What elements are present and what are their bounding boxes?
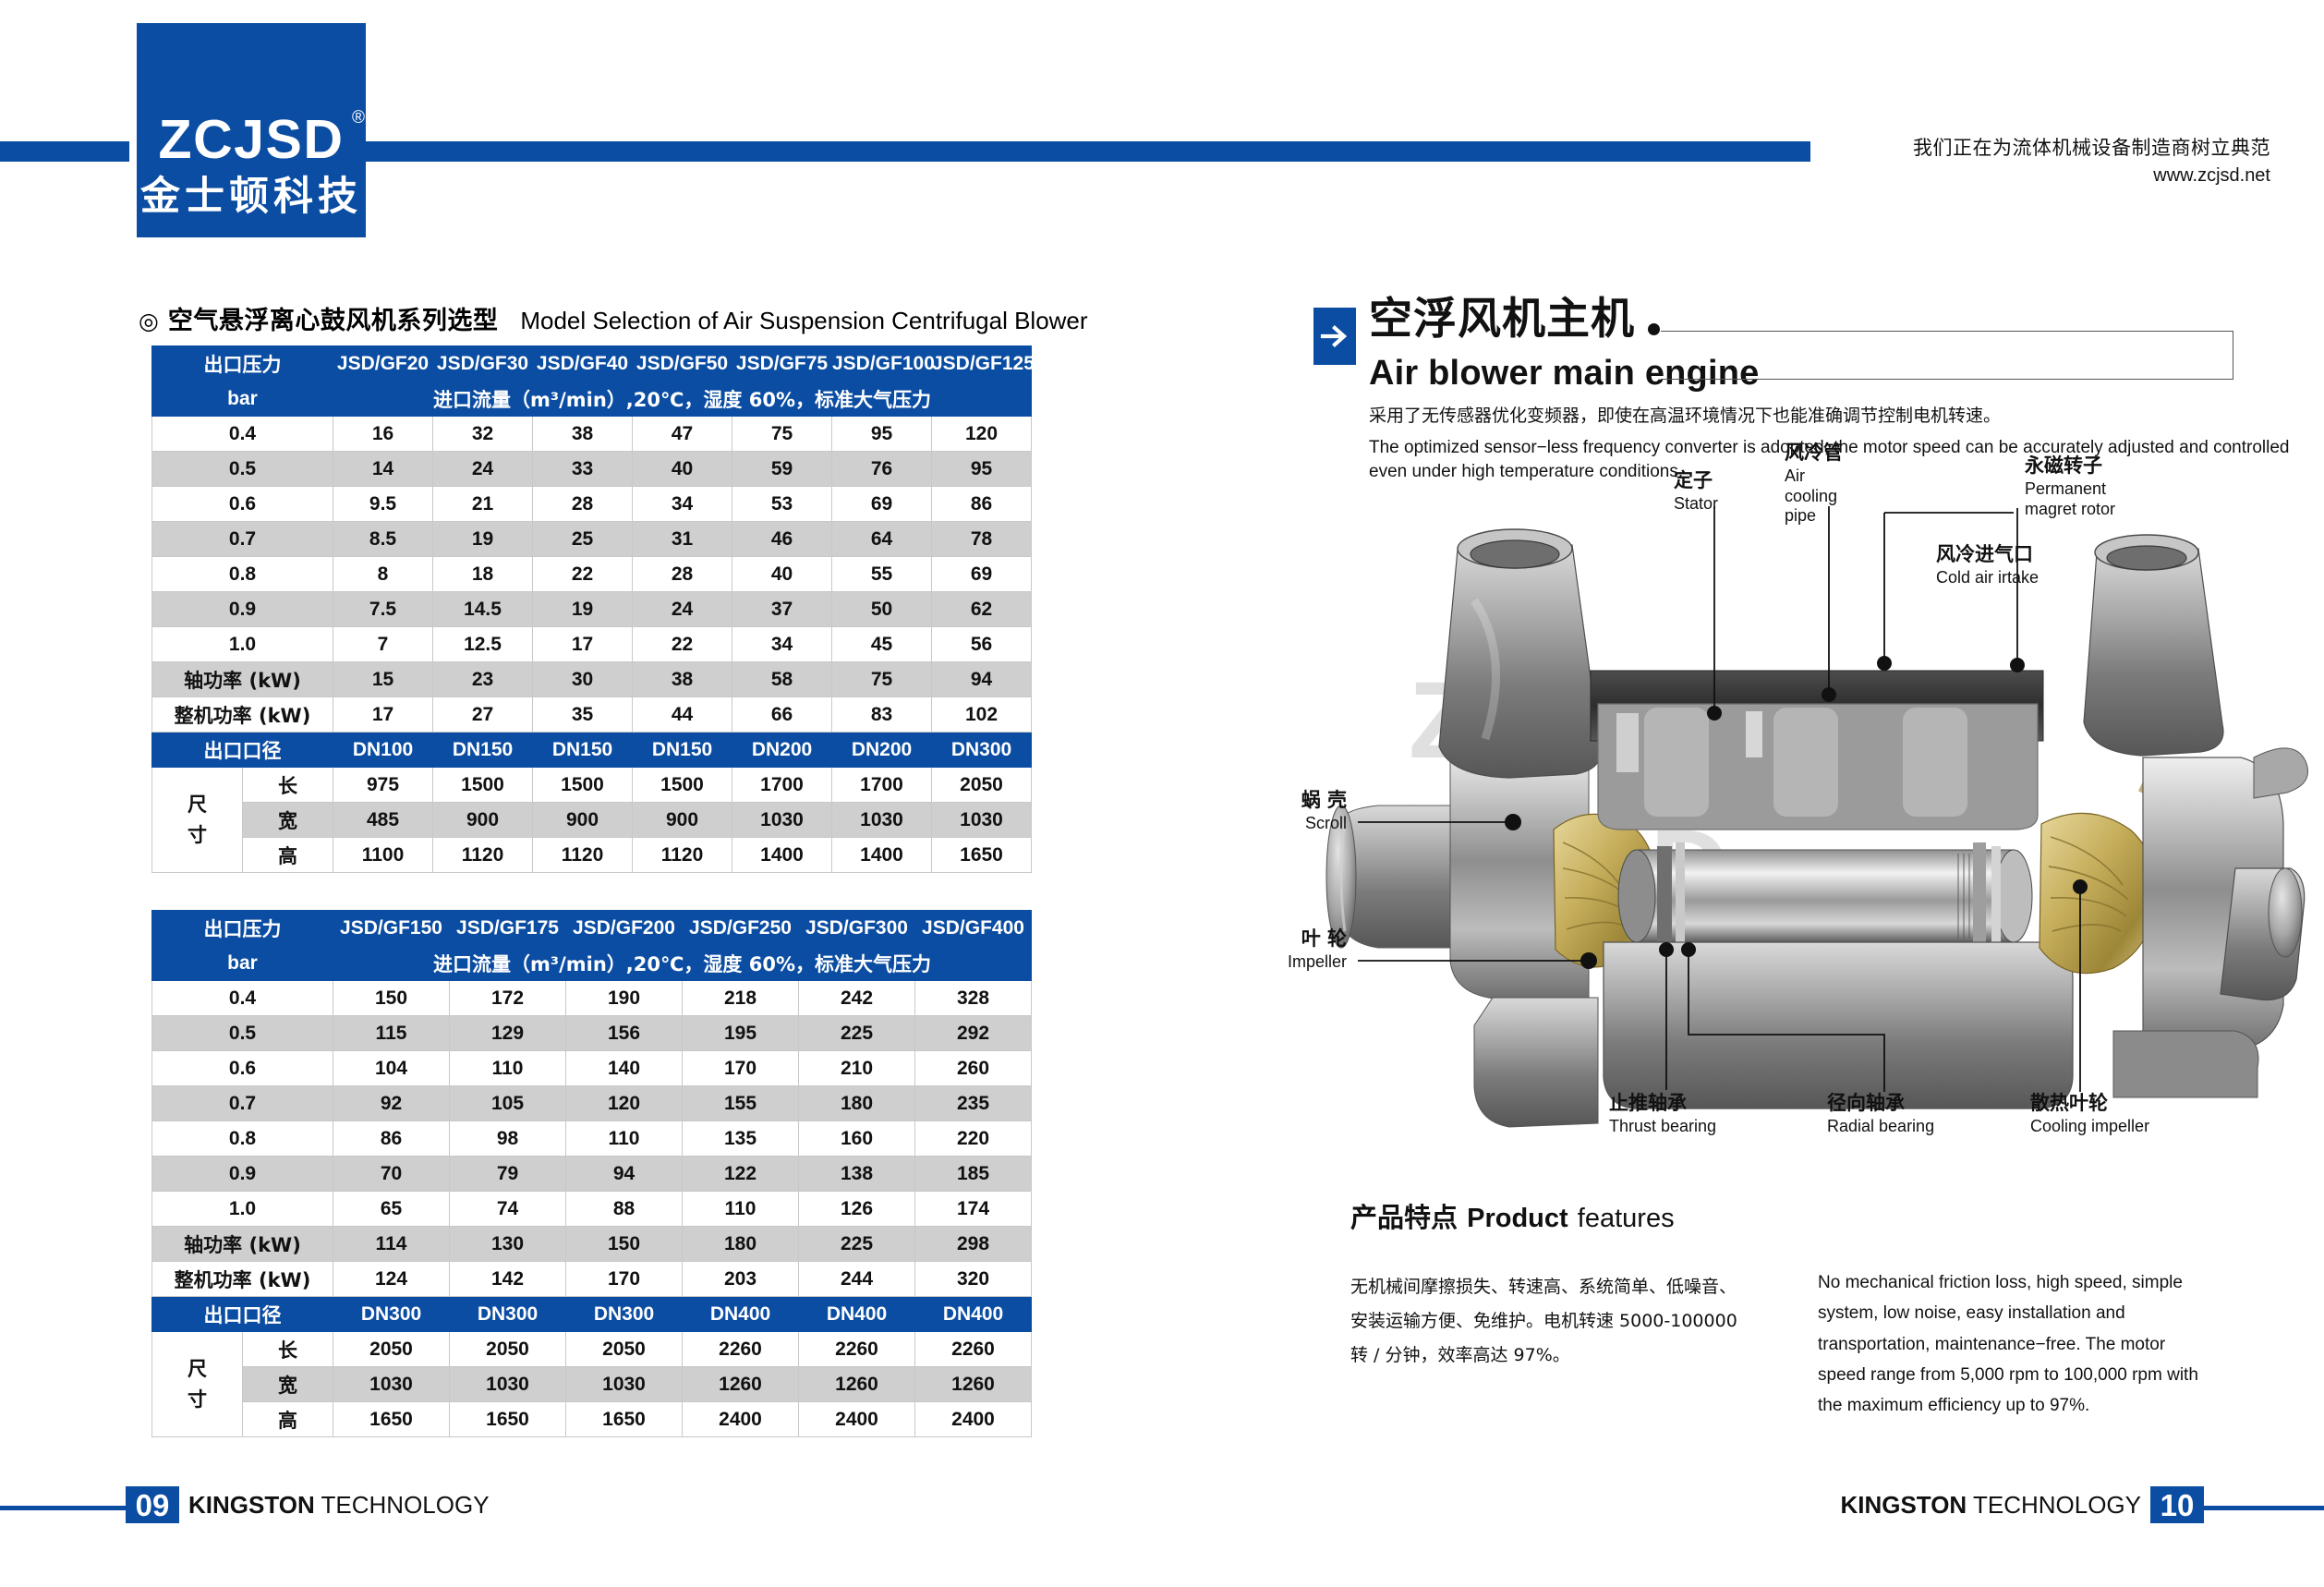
table2-pressure-row: 0.9707994122138185 bbox=[152, 1157, 1032, 1192]
table2-flow-cell: 174 bbox=[915, 1192, 1032, 1227]
table1-dimension-cell: 1500 bbox=[633, 768, 732, 803]
footer-rule-right bbox=[2204, 1506, 2324, 1510]
spec-table-large-models: 出口压力JSD/GF150JSD/GF175JSD/GF200JSD/GF250… bbox=[151, 910, 1032, 1437]
table1-flow-cell: 76 bbox=[832, 452, 932, 487]
table1-dimension-name: 长 bbox=[243, 768, 333, 803]
table2-dimension-cell: 1260 bbox=[915, 1367, 1032, 1402]
table1-flow-cell: 28 bbox=[533, 487, 633, 522]
table1-dimension-cell: 975 bbox=[333, 768, 433, 803]
footer-brand-left-light: TECHNOLOGY bbox=[321, 1491, 490, 1519]
table2-flow-cell: 156 bbox=[566, 1016, 683, 1051]
header-slogan: 我们正在为流体机械设备制造商树立典范 www.zcjsd.net bbox=[1913, 135, 2270, 188]
table1-flow-cell: 7.5 bbox=[333, 592, 433, 627]
table2-flow-cell: 235 bbox=[915, 1086, 1032, 1121]
table1-total-power-cell: 66 bbox=[732, 697, 832, 733]
table1-dimension-name: 高 bbox=[243, 838, 333, 873]
table1-flow-cell: 38 bbox=[533, 417, 633, 452]
table1-flow-cell: 14.5 bbox=[433, 592, 533, 627]
callout-radial-bearing-cn: 径向轴承 bbox=[1827, 1092, 1934, 1115]
table1-dimension-cell: 1120 bbox=[533, 838, 633, 873]
table2-outlet-cell: DN300 bbox=[566, 1297, 683, 1332]
table2-dimension-cell: 1030 bbox=[566, 1367, 683, 1402]
table2-shaft-power-row: 轴功率 (kW)114130150180225298 bbox=[152, 1227, 1032, 1262]
callout-permanent-magnet-rotor: 永磁转子 Permanent magret rotor bbox=[2025, 454, 2128, 519]
table1-flow-cell: 9.5 bbox=[333, 487, 433, 522]
callout-impeller: 叶 轮 Impeller bbox=[1210, 927, 1347, 973]
table2-shaft-power-cell: 225 bbox=[799, 1227, 915, 1262]
table1-dimension-cell: 1120 bbox=[433, 838, 533, 873]
table1-flow-cell: 46 bbox=[732, 522, 832, 557]
table2-unit-row: bar进口流量（m³/min）,20℃，湿度 60%，标准大气压力 bbox=[152, 946, 1032, 981]
table1-total-power-row: 整机功率 (kW)172735446683102 bbox=[152, 697, 1032, 733]
table1-dimension-name: 宽 bbox=[243, 803, 333, 838]
table1-model-4: JSD/GF75 bbox=[732, 346, 832, 382]
table1-dimension-cell: 1500 bbox=[433, 768, 533, 803]
table2-flow-cell: 92 bbox=[333, 1086, 450, 1121]
table1-dimension-row: 宽485900900900103010301030 bbox=[152, 803, 1032, 838]
table1-flow-cell: 24 bbox=[433, 452, 533, 487]
table2-unit-label: bar bbox=[152, 946, 333, 981]
table2-model-4: JSD/GF300 bbox=[799, 911, 915, 946]
callout-cold-air-intake: 风冷进气口 Cold air irtake bbox=[1936, 543, 2039, 588]
table2-pressure-value: 0.8 bbox=[152, 1121, 333, 1157]
company-logo: ZCJSD® 金士顿科技 bbox=[137, 23, 366, 237]
table2-flow-cell: 260 bbox=[915, 1051, 1032, 1086]
table2-pressure-value: 1.0 bbox=[152, 1192, 333, 1227]
table1-total-power-cell: 83 bbox=[832, 697, 932, 733]
table2-flow-cell: 135 bbox=[683, 1121, 799, 1157]
table2-flow-cell: 79 bbox=[450, 1157, 566, 1192]
table1-model-2: JSD/GF40 bbox=[533, 346, 633, 382]
table2-flow-cell: 185 bbox=[915, 1157, 1032, 1192]
callout-air-cooling-pipe: 风冷管 Air cooling pipe bbox=[1785, 442, 1862, 527]
table1-total-power-cell: 35 bbox=[533, 697, 633, 733]
table2-dimension-cell: 1260 bbox=[683, 1367, 799, 1402]
table1-dimension-cell: 1650 bbox=[932, 838, 1032, 873]
arrow-right-icon bbox=[1313, 308, 1356, 365]
table1-flow-cell: 37 bbox=[732, 592, 832, 627]
table1-flow-cell: 28 bbox=[633, 557, 732, 592]
table1-model-6: JSD/GF125 bbox=[932, 346, 1032, 382]
table2-flow-cell: 86 bbox=[333, 1121, 450, 1157]
table1-pressure-value: 0.8 bbox=[152, 557, 333, 592]
table2-model-5: JSD/GF400 bbox=[915, 911, 1032, 946]
table2-pressure-value: 0.9 bbox=[152, 1157, 333, 1192]
table2-flow-cell: 138 bbox=[799, 1157, 915, 1192]
table2-flow-cell: 180 bbox=[799, 1086, 915, 1121]
table1-flow-cell: 34 bbox=[732, 627, 832, 662]
table2-shaft-power-cell: 114 bbox=[333, 1227, 450, 1262]
product-features-title: 产品特点 Product features bbox=[1350, 1196, 1675, 1235]
callout-stator: 定子 Stator bbox=[1674, 469, 1718, 515]
table1-model-3: JSD/GF50 bbox=[633, 346, 732, 382]
table1-total-power-cell: 17 bbox=[333, 697, 433, 733]
table1-model-1: JSD/GF30 bbox=[433, 346, 533, 382]
table2-dimension-cell: 1650 bbox=[566, 1402, 683, 1437]
table2-flow-cell: 150 bbox=[333, 981, 450, 1016]
table2-flow-cell: 120 bbox=[566, 1086, 683, 1121]
table1-flow-header: 进口流量（m³/min）,20℃，湿度 60%，标准大气压力 bbox=[333, 382, 1032, 417]
table1-pressure-value: 0.4 bbox=[152, 417, 333, 452]
table1-flow-cell: 56 bbox=[932, 627, 1032, 662]
table1-outlet-cell: DN300 bbox=[932, 733, 1032, 768]
table2-outlet-cell: DN400 bbox=[915, 1297, 1032, 1332]
table2-flow-cell: 104 bbox=[333, 1051, 450, 1086]
logo-chinese-name: 金士顿科技 bbox=[140, 177, 362, 217]
table1-pressure-row: 0.88182228405569 bbox=[152, 557, 1032, 592]
table2-pressure-value: 0.5 bbox=[152, 1016, 333, 1051]
table2-flow-cell: 115 bbox=[333, 1016, 450, 1051]
table1-flow-cell: 62 bbox=[932, 592, 1032, 627]
callout-radial-bearing-en: Radial bearing bbox=[1827, 1117, 1934, 1137]
callout-stator-cn: 定子 bbox=[1674, 469, 1718, 492]
table1-pressure-value: 0.6 bbox=[152, 487, 333, 522]
table1-pressure-value: 1.0 bbox=[152, 627, 333, 662]
table1-flow-cell: 40 bbox=[732, 557, 832, 592]
table1-flow-cell: 34 bbox=[633, 487, 732, 522]
table2-flow-cell: 328 bbox=[915, 981, 1032, 1016]
table2-outlet-cell: DN300 bbox=[333, 1297, 450, 1332]
table1-pressure-row: 0.97.514.51924375062 bbox=[152, 592, 1032, 627]
spec-table-small-models: 出口压力JSD/GF20JSD/GF30JSD/GF40JSD/GF50JSD/… bbox=[151, 345, 1032, 873]
table1-flow-cell: 33 bbox=[533, 452, 633, 487]
table1-shaft-power-cell: 15 bbox=[333, 662, 433, 697]
callout-cooling-impeller: 散热叶轮 Cooling impeller bbox=[2030, 1092, 2149, 1137]
table1-flow-cell: 78 bbox=[932, 522, 1032, 557]
table2-total-power-row: 整机功率 (kW)124142170203244320 bbox=[152, 1262, 1032, 1297]
table1-outlet-cell: DN100 bbox=[333, 733, 433, 768]
table2-dimension-cell: 1650 bbox=[333, 1402, 450, 1437]
product-features-body-cn: 无机械间摩擦损失、转速高、系统简单、低噪音、安装运输方便、免维护。电机转速 50… bbox=[1350, 1270, 1738, 1373]
table1-dimension-cell: 1030 bbox=[832, 803, 932, 838]
table2-shaft-power-label: 轴功率 (kW) bbox=[152, 1227, 333, 1262]
table1-flow-cell: 21 bbox=[433, 487, 533, 522]
table2-flow-cell: 110 bbox=[566, 1121, 683, 1157]
table2-total-power-cell: 170 bbox=[566, 1262, 683, 1297]
table2-total-power-cell: 203 bbox=[683, 1262, 799, 1297]
logo-wordmark: ZCJSD® bbox=[159, 113, 345, 167]
table2-flow-header: 进口流量（m³/min）,20℃，湿度 60%，标准大气压力 bbox=[333, 946, 1032, 981]
table1-outlet-cell: DN200 bbox=[832, 733, 932, 768]
table2-pressure-value: 0.6 bbox=[152, 1051, 333, 1086]
table2-dimension-label: 尺寸 bbox=[152, 1332, 243, 1437]
table1-shaft-power-cell: 94 bbox=[932, 662, 1032, 697]
table1-flow-cell: 17 bbox=[533, 627, 633, 662]
table2-pressure-row: 1.0657488110126174 bbox=[152, 1192, 1032, 1227]
table1-flow-cell: 18 bbox=[433, 557, 533, 592]
brochure-spread: ZCJSD® 金士顿科技 我们正在为流体机械设备制造商树立典范 www.zcjs… bbox=[0, 0, 2324, 1587]
table2-dimension-cell: 2400 bbox=[915, 1402, 1032, 1437]
table2-dimension-cell: 1260 bbox=[799, 1367, 915, 1402]
table2-dimension-cell: 2050 bbox=[450, 1332, 566, 1367]
table2-flow-cell: 242 bbox=[799, 981, 915, 1016]
table2-pressure-row: 0.88698110135160220 bbox=[152, 1121, 1032, 1157]
table1-outlet-cell: DN200 bbox=[732, 733, 832, 768]
table2-pressure-value: 0.7 bbox=[152, 1086, 333, 1121]
table2-flow-cell: 129 bbox=[450, 1016, 566, 1051]
table1-flow-cell: 45 bbox=[832, 627, 932, 662]
product-features-title-en-bold: Product bbox=[1467, 1204, 1568, 1233]
description-chinese: 采用了无传感器优化变频器，即使在高温环境情况下也能准确调节控制电机转速。 bbox=[1369, 404, 2302, 430]
section-title-english: Model Selection of Air Suspension Centri… bbox=[520, 307, 1087, 335]
table1-pressure-row: 0.69.5212834536986 bbox=[152, 487, 1032, 522]
table1-flow-cell: 86 bbox=[932, 487, 1032, 522]
table2-dimension-cell: 2400 bbox=[799, 1402, 915, 1437]
table2-pressure-row: 0.5115129156195225292 bbox=[152, 1016, 1032, 1051]
table2-total-power-cell: 142 bbox=[450, 1262, 566, 1297]
table1-pressure-value: 0.5 bbox=[152, 452, 333, 487]
table2-shaft-power-cell: 130 bbox=[450, 1227, 566, 1262]
table2-flow-cell: 65 bbox=[333, 1192, 450, 1227]
table1-flow-cell: 40 bbox=[633, 452, 732, 487]
header-rule-left bbox=[0, 141, 129, 162]
table1-total-power-label: 整机功率 (kW) bbox=[152, 697, 333, 733]
company-website[interactable]: www.zcjsd.net bbox=[1913, 164, 2270, 188]
callout-cooling-impeller-en: Cooling impeller bbox=[2030, 1117, 2149, 1137]
table1-flow-cell: 69 bbox=[932, 557, 1032, 592]
callout-cooling-impeller-cn: 散热叶轮 bbox=[2030, 1092, 2149, 1115]
callout-stator-en: Stator bbox=[1674, 494, 1718, 515]
table2-flow-cell: 126 bbox=[799, 1192, 915, 1227]
table1-flow-cell: 8 bbox=[333, 557, 433, 592]
table2-outlet-row: 出口口径DN300DN300DN300DN400DN400DN400 bbox=[152, 1297, 1032, 1332]
table1-shaft-power-cell: 23 bbox=[433, 662, 533, 697]
table2-model-0: JSD/GF150 bbox=[333, 911, 450, 946]
table2-flow-cell: 172 bbox=[450, 981, 566, 1016]
table1-pressure-row: 1.0712.51722344556 bbox=[152, 627, 1032, 662]
table2-flow-cell: 122 bbox=[683, 1157, 799, 1192]
table1-flow-cell: 120 bbox=[932, 417, 1032, 452]
table2-shaft-power-cell: 180 bbox=[683, 1227, 799, 1262]
product-features-title-cn: 产品特点 bbox=[1350, 1202, 1458, 1233]
table1-outlet-label: 出口口径 bbox=[152, 733, 333, 768]
table1-unit-label: bar bbox=[152, 382, 333, 417]
table2-flow-cell: 170 bbox=[683, 1051, 799, 1086]
table1-flow-cell: 95 bbox=[932, 452, 1032, 487]
table1-dimension-cell: 1030 bbox=[932, 803, 1032, 838]
table1-dimension-row: 高1100112011201120140014001650 bbox=[152, 838, 1032, 873]
table1-flow-cell: 47 bbox=[633, 417, 732, 452]
footer-brand-left-bold: KINGSTON bbox=[188, 1491, 315, 1519]
table2-pressure-row: 0.792105120155180235 bbox=[152, 1086, 1032, 1121]
table2-shaft-power-cell: 298 bbox=[915, 1227, 1032, 1262]
table2-dimension-cell: 1030 bbox=[333, 1367, 450, 1402]
table1-flow-cell: 50 bbox=[832, 592, 932, 627]
table2-flow-cell: 110 bbox=[450, 1051, 566, 1086]
table1-dimension-cell: 1120 bbox=[633, 838, 732, 873]
table1-flow-cell: 55 bbox=[832, 557, 932, 592]
table1-dimension-cell: 1400 bbox=[732, 838, 832, 873]
table1-pressure-value: 0.7 bbox=[152, 522, 333, 557]
table1-flow-cell: 8.5 bbox=[333, 522, 433, 557]
callout-scroll-cn: 蜗 壳 bbox=[1210, 789, 1347, 812]
table1-dimension-cell: 900 bbox=[633, 803, 732, 838]
table1-total-power-cell: 44 bbox=[633, 697, 732, 733]
table2-pressure-value: 0.4 bbox=[152, 981, 333, 1016]
table1-outlet-cell: DN150 bbox=[533, 733, 633, 768]
bullet-icon: ◎ bbox=[139, 308, 159, 335]
table2-flow-cell: 160 bbox=[799, 1121, 915, 1157]
table2-dimension-name: 长 bbox=[243, 1332, 333, 1367]
table2-flow-cell: 292 bbox=[915, 1016, 1032, 1051]
table1-dimension-cell: 1700 bbox=[732, 768, 832, 803]
table1-pressure-value: 0.9 bbox=[152, 592, 333, 627]
table1-flow-cell: 22 bbox=[533, 557, 633, 592]
callout-air-cooling-pipe-cn: 风冷管 bbox=[1785, 442, 1862, 465]
logo-wordmark-text: ZCJSD bbox=[159, 109, 345, 170]
table2-flow-cell: 88 bbox=[566, 1192, 683, 1227]
table1-model-0: JSD/GF20 bbox=[333, 346, 433, 382]
table2-total-power-cell: 124 bbox=[333, 1262, 450, 1297]
table1-shaft-power-cell: 58 bbox=[732, 662, 832, 697]
table1-dimension-cell: 900 bbox=[533, 803, 633, 838]
table2-flow-cell: 155 bbox=[683, 1086, 799, 1121]
table2-outlet-label: 出口口径 bbox=[152, 1297, 333, 1332]
callout-scroll: 蜗 壳 Scroll bbox=[1210, 789, 1347, 834]
table1-dimension-cell: 1500 bbox=[533, 768, 633, 803]
table2-model-header-row: 出口压力JSD/GF150JSD/GF175JSD/GF200JSD/GF250… bbox=[152, 911, 1032, 946]
table1-flow-cell: 64 bbox=[832, 522, 932, 557]
table2-dimension-cell: 1030 bbox=[450, 1367, 566, 1402]
table2-flow-cell: 218 bbox=[683, 981, 799, 1016]
table2-model-3: JSD/GF250 bbox=[683, 911, 799, 946]
table2-total-power-cell: 320 bbox=[915, 1262, 1032, 1297]
table2-flow-cell: 70 bbox=[333, 1157, 450, 1192]
table2-total-power-cell: 244 bbox=[799, 1262, 915, 1297]
table1-outlet-row: 出口口径DN100DN150DN150DN150DN200DN200DN300 bbox=[152, 733, 1032, 768]
footer-brand-right-bold: KINGSTON bbox=[1840, 1491, 1967, 1519]
table1-pressure-row: 0.4163238477595120 bbox=[152, 417, 1032, 452]
table2-dimension-row: 高165016501650240024002400 bbox=[152, 1402, 1032, 1437]
slogan-chinese: 我们正在为流体机械设备制造商树立典范 bbox=[1913, 135, 2270, 161]
table2-flow-cell: 220 bbox=[915, 1121, 1032, 1157]
table1-shaft-power-cell: 75 bbox=[832, 662, 932, 697]
table1-shaft-power-cell: 38 bbox=[633, 662, 732, 697]
table1-shaft-power-label: 轴功率 (kW) bbox=[152, 662, 333, 697]
table1-pressure-row: 0.514243340597695 bbox=[152, 452, 1032, 487]
callout-scroll-en: Scroll bbox=[1210, 814, 1347, 834]
blower-cutaway-diagram: ZCJSD ZCJSD bbox=[1312, 480, 2309, 1145]
table1-flow-cell: 19 bbox=[533, 592, 633, 627]
table1-dimension-cell: 1400 bbox=[832, 838, 932, 873]
callout-cold-air-intake-cn: 风冷进气口 bbox=[1936, 543, 2039, 566]
table2-model-2: JSD/GF200 bbox=[566, 911, 683, 946]
table1-flow-cell: 59 bbox=[732, 452, 832, 487]
callout-thrust-bearing-en: Thrust bearing bbox=[1609, 1117, 1716, 1137]
table1-flow-cell: 16 bbox=[333, 417, 433, 452]
table2-flow-cell: 225 bbox=[799, 1016, 915, 1051]
table2-corner-label: 出口压力 bbox=[152, 911, 333, 946]
table1-dimension-cell: 1030 bbox=[732, 803, 832, 838]
callout-permanent-magnet-rotor-en: Permanent magret rotor bbox=[2025, 479, 2128, 519]
table1-dimension-cell: 485 bbox=[333, 803, 433, 838]
table2-flow-cell: 94 bbox=[566, 1157, 683, 1192]
table1-flow-cell: 22 bbox=[633, 627, 732, 662]
table1-flow-cell: 12.5 bbox=[433, 627, 533, 662]
table1-model-5: JSD/GF100 bbox=[832, 346, 932, 382]
footer-rule-left bbox=[0, 1506, 126, 1510]
footer-brand-right-light: TECHNOLOGY bbox=[1973, 1491, 2141, 1519]
table1-flow-cell: 53 bbox=[732, 487, 832, 522]
section-title: ◎ 空气悬浮离心鼓风机系列选型 Model Selection of Air S… bbox=[139, 300, 1088, 336]
table2-dimension-row: 尺寸长205020502050226022602260 bbox=[152, 1332, 1032, 1367]
table1-dimension-cell: 900 bbox=[433, 803, 533, 838]
table1-outlet-cell: DN150 bbox=[633, 733, 732, 768]
table2-dimension-cell: 2400 bbox=[683, 1402, 799, 1437]
table1-flow-cell: 14 bbox=[333, 452, 433, 487]
footer-brand-left: KINGSTON TECHNOLOGY bbox=[188, 1491, 490, 1520]
callout-cold-air-intake-en: Cold air irtake bbox=[1936, 568, 2039, 588]
table2-flow-cell: 140 bbox=[566, 1051, 683, 1086]
callout-air-cooling-pipe-en: Air cooling pipe bbox=[1785, 466, 1862, 527]
table1-flow-cell: 25 bbox=[533, 522, 633, 557]
table1-flow-cell: 19 bbox=[433, 522, 533, 557]
table1-flow-cell: 75 bbox=[732, 417, 832, 452]
table2-dimension-name: 宽 bbox=[243, 1367, 333, 1402]
table1-dimension-label: 尺寸 bbox=[152, 768, 243, 873]
table2-model-1: JSD/GF175 bbox=[450, 911, 566, 946]
table1-dimension-cell: 1700 bbox=[832, 768, 932, 803]
table1-model-header-row: 出口压力JSD/GF20JSD/GF30JSD/GF40JSD/GF50JSD/… bbox=[152, 346, 1032, 382]
table2-flow-cell: 195 bbox=[683, 1016, 799, 1051]
table1-corner-label: 出口压力 bbox=[152, 346, 333, 382]
table2-dimension-cell: 2050 bbox=[333, 1332, 450, 1367]
table1-dimension-cell: 2050 bbox=[932, 768, 1032, 803]
callout-radial-bearing: 径向轴承 Radial bearing bbox=[1827, 1092, 1934, 1137]
table2-pressure-row: 0.4150172190218242328 bbox=[152, 981, 1032, 1016]
table2-flow-cell: 190 bbox=[566, 981, 683, 1016]
table2-dimension-row: 宽103010301030126012601260 bbox=[152, 1367, 1032, 1402]
callout-impeller-en: Impeller bbox=[1210, 952, 1347, 973]
callout-impeller-cn: 叶 轮 bbox=[1210, 927, 1347, 951]
table2-dimension-cell: 2260 bbox=[683, 1332, 799, 1367]
page-number-right: 10 bbox=[2150, 1486, 2204, 1523]
right-page-title-chinese: 空浮风机主机 bbox=[1369, 297, 1635, 341]
table1-outlet-cell: DN150 bbox=[433, 733, 533, 768]
table2-dimension-cell: 1650 bbox=[450, 1402, 566, 1437]
table2-flow-cell: 74 bbox=[450, 1192, 566, 1227]
table2-outlet-cell: DN400 bbox=[799, 1297, 915, 1332]
table1-dimension-row: 尺寸长975150015001500170017002050 bbox=[152, 768, 1032, 803]
table2-dimension-cell: 2260 bbox=[799, 1332, 915, 1367]
table2-outlet-cell: DN300 bbox=[450, 1297, 566, 1332]
table1-shaft-power-row: 轴功率 (kW)15233038587594 bbox=[152, 662, 1032, 697]
product-features-body-en: No mechanical friction loss, high speed,… bbox=[1818, 1267, 2215, 1421]
callout-thrust-bearing-cn: 止推轴承 bbox=[1609, 1092, 1716, 1115]
table1-unit-row: bar进口流量（m³/min）,20℃，湿度 60%，标准大气压力 bbox=[152, 382, 1032, 417]
table2-flow-cell: 105 bbox=[450, 1086, 566, 1121]
table2-dimension-cell: 2260 bbox=[915, 1332, 1032, 1367]
table1-flow-cell: 95 bbox=[832, 417, 932, 452]
table2-dimension-name: 高 bbox=[243, 1402, 333, 1437]
table1-shaft-power-cell: 30 bbox=[533, 662, 633, 697]
registered-trademark-icon: ® bbox=[352, 109, 367, 127]
footer-brand-right: KINGSTON TECHNOLOGY bbox=[1840, 1491, 2141, 1520]
header-rule-right bbox=[365, 141, 1810, 162]
table1-dimension-cell: 1100 bbox=[333, 838, 433, 873]
table1-total-power-cell: 102 bbox=[932, 697, 1032, 733]
table1-flow-cell: 7 bbox=[333, 627, 433, 662]
table1-flow-cell: 69 bbox=[832, 487, 932, 522]
table2-pressure-row: 0.6104110140170210260 bbox=[152, 1051, 1032, 1086]
callout-thrust-bearing: 止推轴承 Thrust bearing bbox=[1609, 1092, 1716, 1137]
table2-shaft-power-cell: 150 bbox=[566, 1227, 683, 1262]
table2-outlet-cell: DN400 bbox=[683, 1297, 799, 1332]
table2-flow-cell: 98 bbox=[450, 1121, 566, 1157]
table1-pressure-row: 0.78.5192531466478 bbox=[152, 522, 1032, 557]
table2-flow-cell: 110 bbox=[683, 1192, 799, 1227]
page-number-left: 09 bbox=[126, 1486, 179, 1523]
